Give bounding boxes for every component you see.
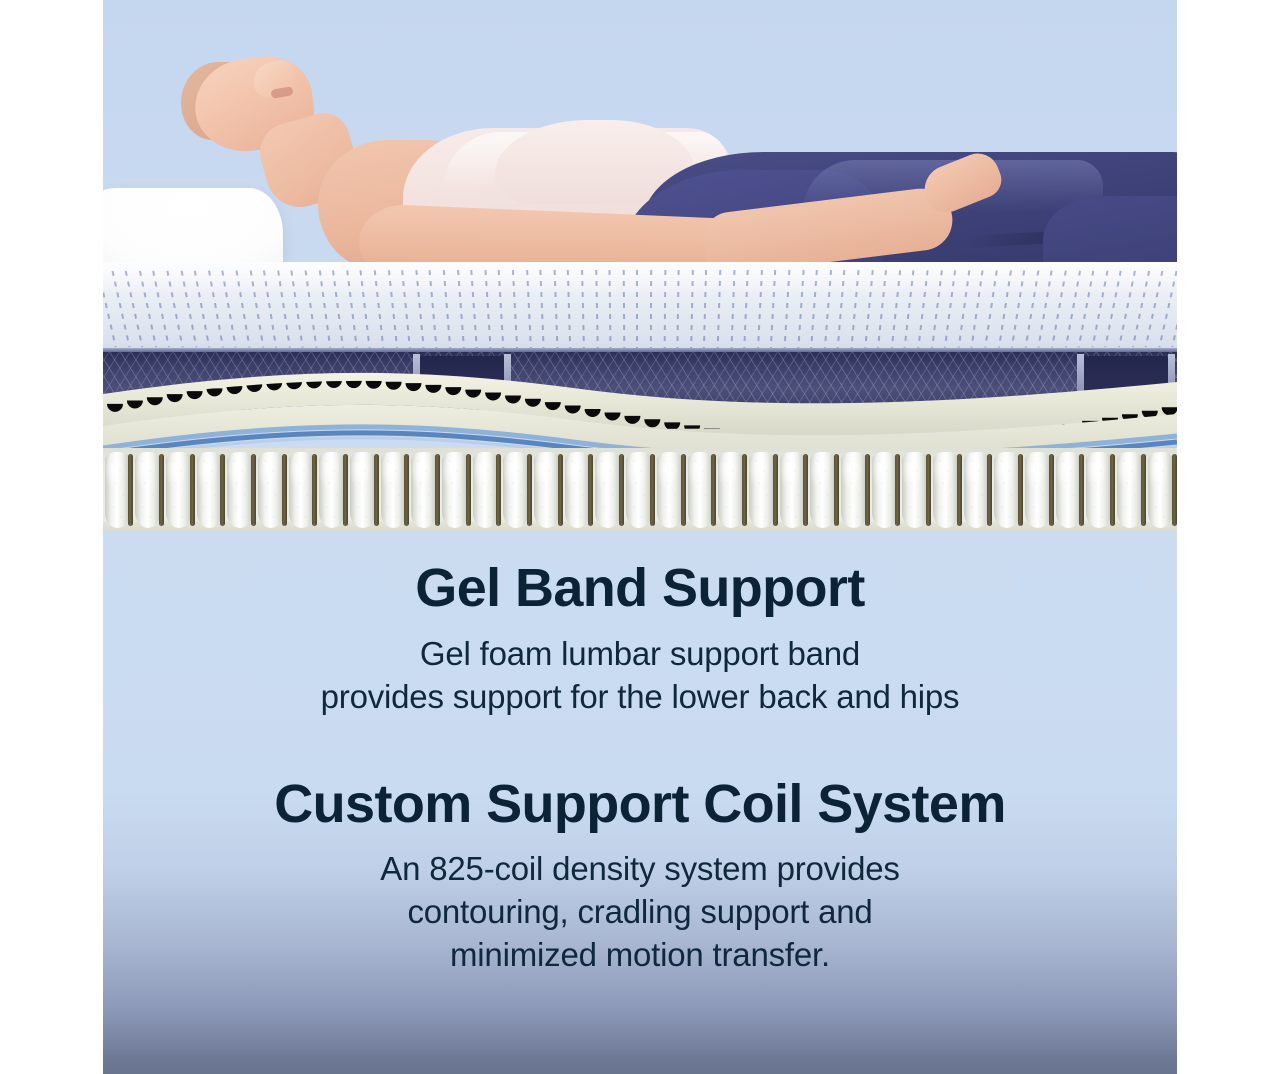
coil-separation [466,454,471,526]
coil-separation [251,454,256,526]
coil-separation [159,454,164,526]
pocketed-coil [565,452,591,528]
pocketed-coil [964,452,990,528]
page-root: Gel Band Support Gel foam lumbar support… [0,0,1280,1074]
gel-band-support-body-line-2: provides support for the lower back and … [103,676,1177,719]
coil-separation [895,454,900,526]
pocketed-coil [135,452,161,528]
coil-separation [1018,454,1023,526]
coil-separation [282,454,287,526]
feature-gel-band-support: Gel Band Support Gel foam lumbar support… [103,531,1177,719]
coil-separation [404,454,409,526]
feature-text-area: Gel Band Support Gel foam lumbar support… [103,531,1177,1074]
coil-separation [926,454,931,526]
coil-separation [619,454,624,526]
coil-separation [834,454,839,526]
pocketed-coil [473,452,499,528]
coil-separation [190,454,195,526]
pocketed-coil [350,452,376,528]
pocketed-coil [749,452,775,528]
pocketed-coil [933,452,959,528]
pocketed-coil [442,452,468,528]
coil-separation [558,454,563,526]
gel-band-support-body-line-1: Gel foam lumbar support band [103,633,1177,676]
pocketed-coil [381,452,407,528]
pocketed-coil [227,452,253,528]
coil-separation [650,454,655,526]
coil-separation [773,454,778,526]
custom-support-coil-system-body: An 825-coil density system provides cont… [103,832,1177,977]
pocketed-coil [166,452,192,528]
coil-separation [1172,454,1177,526]
custom-support-coil-system-body-line-3: minimized motion transfer. [103,934,1177,977]
coil-separation [128,454,133,526]
pocketed-coil [289,452,315,528]
pocketed-coil [810,452,836,528]
pocketed-coil [688,452,714,528]
pocketed-coil [780,452,806,528]
pocketed-coil [534,452,560,528]
pocketed-coil [197,452,223,528]
coil-separation [803,454,808,526]
pocketed-coil [503,452,529,528]
pocketed-coil [1148,452,1174,528]
coil-separation [987,454,992,526]
pocketed-coil [258,452,284,528]
feature-custom-support-coil-system: Custom Support Coil System An 825-coil d… [103,719,1177,977]
pocketed-coil [657,452,683,528]
coil-separation [681,454,686,526]
custom-support-coil-system-heading: Custom Support Coil System [103,777,1177,832]
gel-band-support-body: Gel foam lumbar support band provides su… [103,616,1177,719]
product-feature-panel: Gel Band Support Gel foam lumbar support… [103,0,1177,1074]
pocketed-coil [411,452,437,528]
coil-separation [711,454,716,526]
coil-separation [957,454,962,526]
mattress-cutaway-photo [103,0,1177,531]
coil-separation [435,454,440,526]
pocketed-coil-row [103,448,1177,531]
pocketed-coil [105,452,131,528]
custom-support-coil-system-body-line-1: An 825-coil density system provides [103,848,1177,891]
coil-separation [220,454,225,526]
coil-separation [312,454,317,526]
pocketed-coil [872,452,898,528]
pocketed-coil [1086,452,1112,528]
pocketed-coil [841,452,867,528]
coil-separation [742,454,747,526]
pocketed-coil [902,452,928,528]
pocketed-coil [718,452,744,528]
coil-separation [588,454,593,526]
pocketed-coil [1025,452,1051,528]
pocketed-coil [319,452,345,528]
coil-separation [1049,454,1054,526]
coil-separation [1079,454,1084,526]
gel-band-support-heading: Gel Band Support [103,561,1177,616]
coil-separation [496,454,501,526]
pocketed-coil [1117,452,1143,528]
pocketed-coil [626,452,652,528]
custom-support-coil-system-body-line-2: contouring, cradling support and [103,891,1177,934]
coil-separation [1141,454,1146,526]
coil-separation [865,454,870,526]
pocketed-coil [595,452,621,528]
pocketed-coil [1056,452,1082,528]
coil-separation [527,454,532,526]
pocketed-coil [994,452,1020,528]
coil-separation [343,454,348,526]
coil-separation [374,454,379,526]
coil-separation [1110,454,1115,526]
